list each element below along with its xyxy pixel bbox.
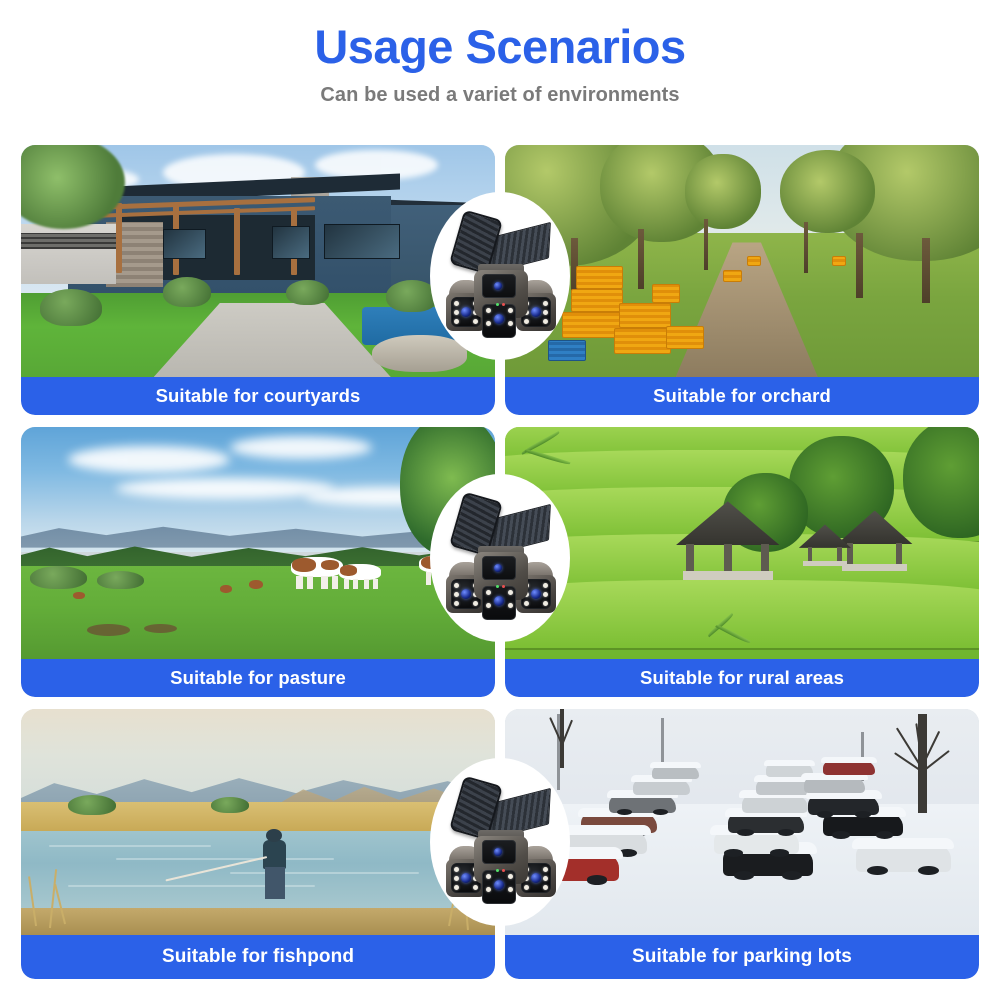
scenario-caption-orchard: Suitable for orchard xyxy=(505,377,979,415)
scenario-photo-rural-areas xyxy=(505,427,979,659)
page-subtitle: Can be used a variet of environments xyxy=(0,84,1000,107)
scenario-caption-pasture: Suitable for pasture xyxy=(21,659,495,697)
scenario-photo-courtyards xyxy=(21,145,495,377)
page-title: Usage Scenarios xyxy=(0,22,1000,71)
scenario-card-rural-areas[interactable]: Suitable for rural areas xyxy=(505,427,979,697)
scenario-photo-orchard xyxy=(505,145,979,377)
usage-scenarios-page: Usage Scenarios Can be used a variet of … xyxy=(0,0,1000,1000)
scenario-card-courtyards[interactable]: Suitable for courtyards xyxy=(21,145,495,415)
scenario-caption-fishpond: Suitable for fishpond xyxy=(21,935,495,979)
scenario-card-orchard[interactable]: Suitable for orchard xyxy=(505,145,979,415)
scenario-card-pasture[interactable]: Suitable for pasture xyxy=(21,427,495,697)
scenario-photo-fishpond xyxy=(21,709,495,935)
scenario-caption-rural-areas: Suitable for rural areas xyxy=(505,659,979,697)
scenario-caption-courtyards: Suitable for courtyards xyxy=(21,377,495,415)
scenario-grid: Suitable for courtyards xyxy=(21,145,979,979)
scenario-card-parking-lots[interactable]: Suitable for parking lots xyxy=(505,709,979,979)
page-header: Usage Scenarios Can be used a variet of … xyxy=(0,0,1000,107)
scenario-card-fishpond[interactable]: Suitable for fishpond xyxy=(21,709,495,979)
scenario-photo-parking-lots xyxy=(505,709,979,935)
scenario-photo-pasture xyxy=(21,427,495,659)
scenario-caption-parking-lots: Suitable for parking lots xyxy=(505,935,979,979)
